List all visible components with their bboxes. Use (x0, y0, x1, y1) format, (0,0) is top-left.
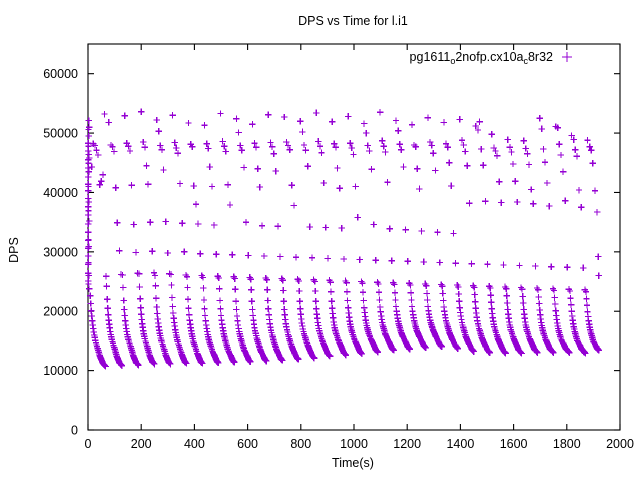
x-tick-label: 1200 (393, 437, 421, 451)
y-tick-label: 30000 (43, 245, 78, 259)
y-tick-label: 0 (71, 424, 78, 438)
chart-background (0, 0, 640, 480)
dps-vs-time-scatter-chart: DPS vs Time for l.i1 0100002000030000400… (0, 0, 640, 480)
legend-series-label: pg1611o2nofp.cx10ac8r32 (410, 50, 553, 66)
x-tick-label: 1600 (500, 437, 528, 451)
x-tick-label: 800 (290, 437, 311, 451)
y-tick-label: 20000 (43, 305, 78, 319)
chart-legend: pg1611o2nofp.cx10ac8r32 (410, 50, 572, 66)
y-tick-label: 10000 (43, 364, 78, 378)
x-tick-label: 600 (237, 437, 258, 451)
x-tick-label: 400 (184, 437, 205, 451)
x-tick-label: 1000 (340, 437, 368, 451)
y-tick-label: 40000 (43, 186, 78, 200)
x-tick-label: 2000 (606, 437, 634, 451)
y-tick-label: 60000 (43, 67, 78, 81)
chart-container: DPS vs Time for l.i1 0100002000030000400… (0, 0, 640, 480)
x-tick-label: 1800 (553, 437, 581, 451)
y-tick-label: 50000 (43, 127, 78, 141)
chart-title: DPS vs Time for l.i1 (298, 14, 408, 28)
x-tick-label: 0 (85, 437, 92, 451)
y-axis-label: DPS (7, 237, 21, 263)
x-axis-label: Time(s) (332, 456, 374, 470)
x-tick-label: 200 (131, 437, 152, 451)
x-tick-label: 1400 (446, 437, 474, 451)
